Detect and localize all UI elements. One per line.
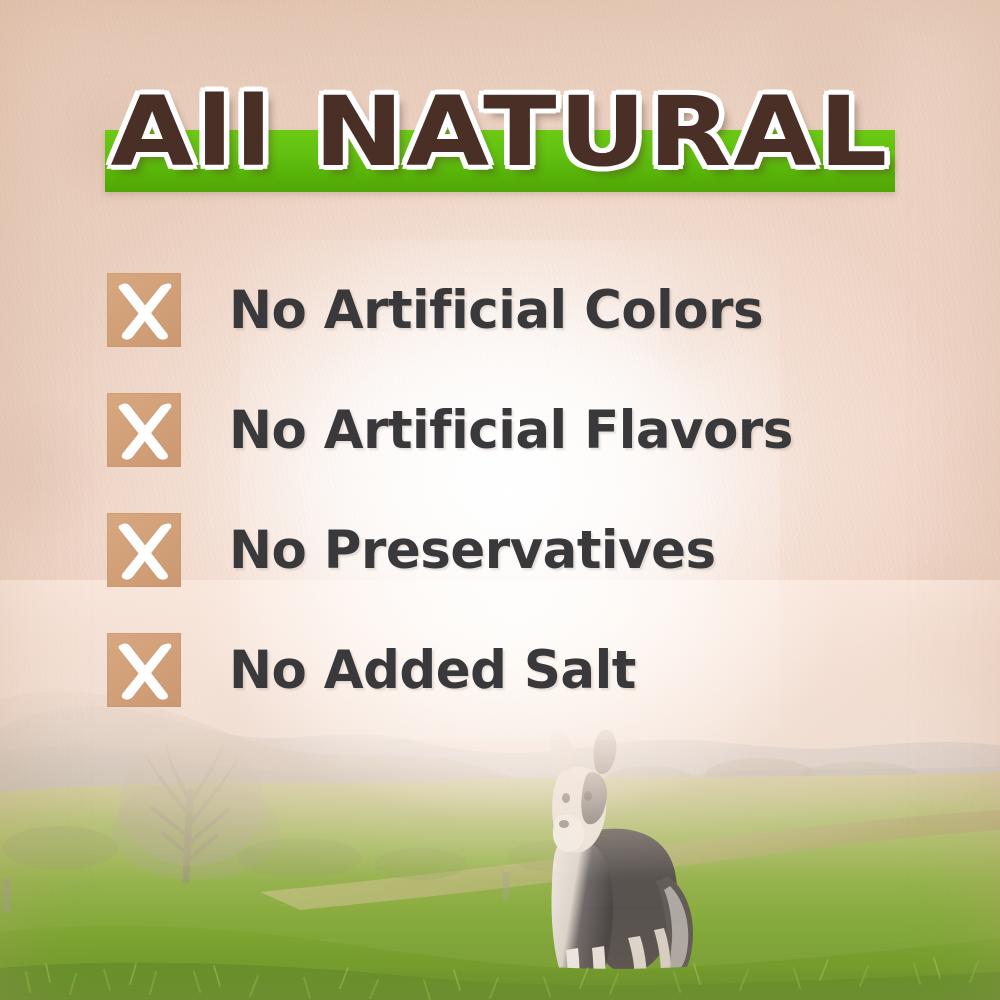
x-mark-icon xyxy=(107,273,181,347)
x-mark-icon xyxy=(107,393,181,467)
headline-banner: All NATURAL xyxy=(0,72,1000,200)
list-item: No Artificial Colors xyxy=(0,250,1000,370)
feature-list: No Artificial Colors No Artificial Flavo… xyxy=(0,250,1000,730)
list-item: No Preservatives xyxy=(0,490,1000,610)
list-item: No Added Salt xyxy=(0,610,1000,730)
headline-text: All NATURAL xyxy=(0,72,1000,192)
x-mark-icon xyxy=(107,633,181,707)
all-natural-feature-panel: All NATURAL No Artificial Colors xyxy=(0,0,1000,1000)
x-mark-icon xyxy=(107,513,181,587)
list-item: No Artificial Flavors xyxy=(0,370,1000,490)
list-item-label: No Artificial Flavors xyxy=(229,404,793,457)
list-item-label: No Preservatives xyxy=(229,524,716,577)
list-item-label: No Artificial Colors xyxy=(229,284,763,337)
list-item-label: No Added Salt xyxy=(229,644,636,697)
